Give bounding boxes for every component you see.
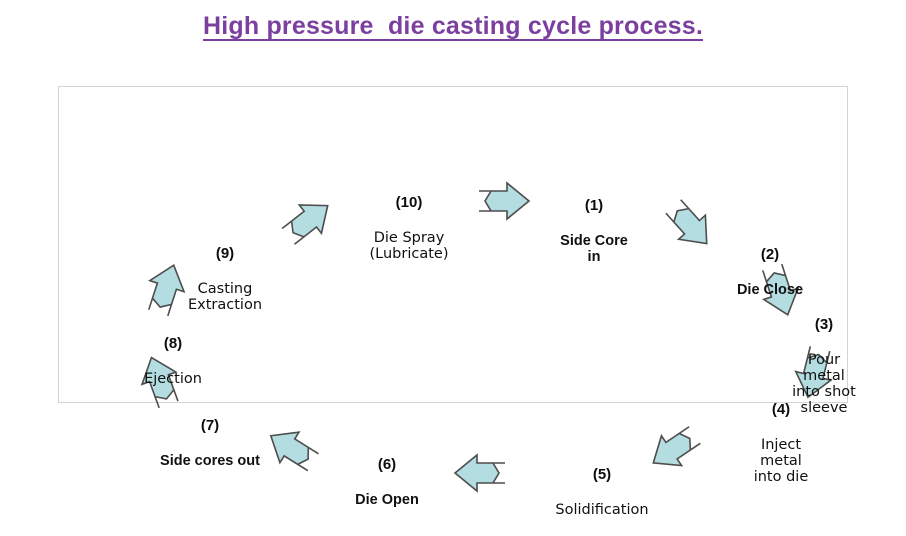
cycle-step-7: (7) Side cores out xyxy=(135,400,285,487)
cycle-step-6-number: (6) xyxy=(321,457,453,474)
cycle-step-9-label: Casting Extraction xyxy=(149,281,301,313)
cycle-step-5: (5) Solidification xyxy=(514,449,690,536)
cycle-step-6-label: Die Open xyxy=(321,492,453,508)
cycle-step-1-label: Side Core in xyxy=(523,233,665,265)
cycle-step-5-label: Solidification xyxy=(514,502,690,518)
page-title: High pressure die casting cycle process. xyxy=(0,12,906,41)
cycle-step-9: (9) Casting Extraction xyxy=(149,228,301,331)
cycle-step-2-label: Die Close xyxy=(695,282,845,298)
page-root: High pressure die casting cycle process. xyxy=(0,0,906,420)
cycle-step-7-number: (7) xyxy=(135,418,285,435)
cycle-step-10-number: (10) xyxy=(311,195,507,212)
cycle-step-1: (1) Side Core in xyxy=(523,180,665,283)
cycle-step-6: (6) Die Open xyxy=(321,439,453,526)
cycle-step-8: (8) Ejection xyxy=(107,318,239,405)
cycle-step-8-label: Ejection xyxy=(107,371,239,387)
cycle-step-3-number: (3) xyxy=(759,317,889,334)
cycle-step-10-label: Die Spray (Lubricate) xyxy=(311,230,507,262)
cycle-diagram-frame: (1) Side Core in (2) Die Close (3) Pour … xyxy=(58,86,848,403)
cycle-step-5-number: (5) xyxy=(514,467,690,484)
cycle-step-8-number: (8) xyxy=(107,336,239,353)
cycle-step-9-number: (9) xyxy=(149,246,301,263)
cycle-step-10: (10) Die Spray (Lubricate) xyxy=(311,177,507,280)
cycle-step-1-number: (1) xyxy=(523,198,665,215)
cycle-step-7-label: Side cores out xyxy=(135,453,285,469)
arrow-right-icon xyxy=(453,451,507,495)
cycle-step-4: (4) Inject metal into die xyxy=(715,384,847,503)
cycle-step-4-number: (4) xyxy=(715,402,847,419)
cycle-step-4-label: Inject metal into die xyxy=(715,437,847,486)
cycle-step-2-number: (2) xyxy=(695,247,845,264)
